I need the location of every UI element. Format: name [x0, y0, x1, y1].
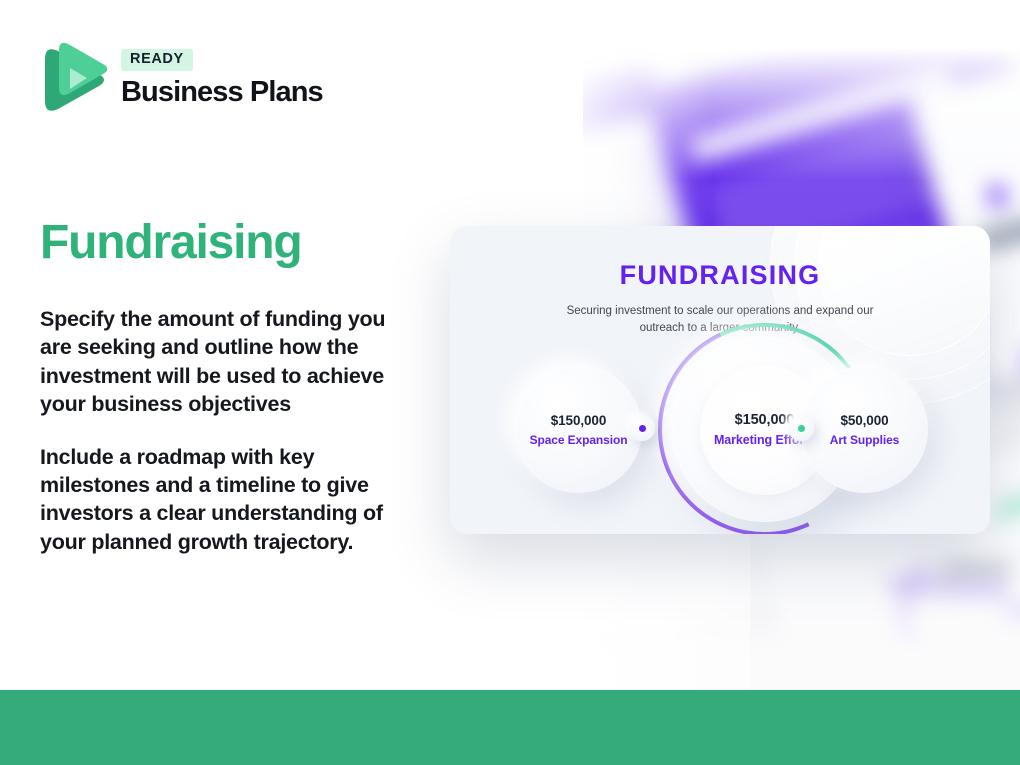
brand-name: Business Plans — [121, 77, 323, 107]
body-copy: Specify the amount of funding you are se… — [40, 305, 420, 556]
funding-bubble-art-supplies[interactable]: $50,000 Art Supplies — [801, 366, 928, 493]
funding-diagram: $150,000 Space Expansion $150,000 Market… — [450, 226, 990, 534]
brand-text: READY Business Plans — [121, 47, 323, 107]
ready-badge: READY — [121, 49, 193, 71]
connector-knob-left — [629, 415, 655, 441]
funding-amount: $50,000 — [840, 413, 888, 428]
slide-marker — [987, 184, 1008, 209]
play-triangle-logo-icon — [41, 41, 107, 113]
funding-category: Art Supplies — [830, 433, 899, 447]
connector-knob-right — [788, 415, 814, 441]
footer-bar — [0, 690, 1020, 765]
funding-category: Space Expansion — [530, 433, 628, 447]
green-dot-icon — [798, 425, 805, 432]
funding-amount: $150,000 — [551, 413, 607, 428]
body-paragraph-2: Include a roadmap with key milestones an… — [40, 443, 420, 557]
fundraising-card: FUNDRAISING Securing investment to scale… — [450, 226, 990, 534]
funding-amount: $150,000 — [735, 412, 795, 428]
body-paragraph-1: Specify the amount of funding you are se… — [40, 305, 420, 419]
funding-bubble-space-expansion[interactable]: $150,000 Space Expansion — [515, 366, 642, 493]
brand-logo[interactable]: READY Business Plans — [41, 41, 323, 113]
page-title: Fundraising — [40, 215, 301, 270]
purple-dot-icon — [639, 425, 646, 432]
